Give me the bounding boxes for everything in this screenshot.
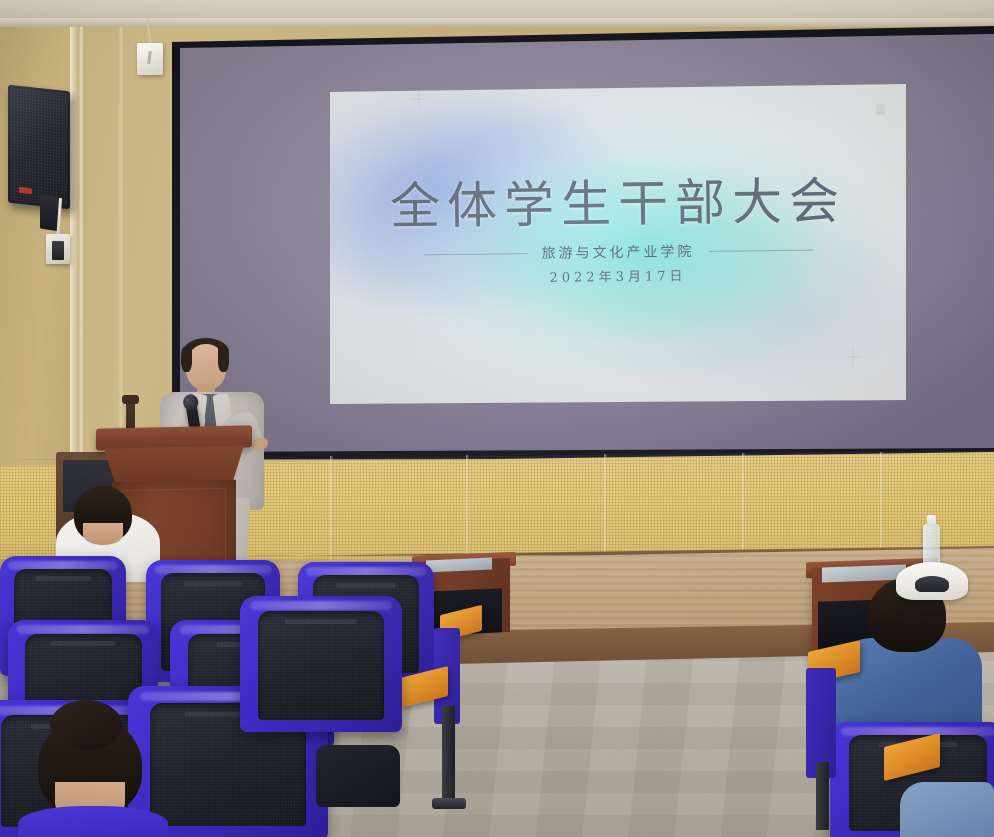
hair-bun bbox=[50, 700, 122, 750]
rule-left bbox=[424, 253, 528, 255]
slide-subtitle-row: 旅游与文化产业学院 bbox=[330, 238, 906, 265]
panel-seam bbox=[330, 456, 333, 561]
speaker-brand-mark bbox=[19, 187, 32, 194]
wall-loudspeaker bbox=[8, 85, 70, 210]
seat-foot bbox=[432, 798, 466, 809]
slide-subtitle: 旅游与文化产业学院 bbox=[541, 241, 694, 263]
wall-seam bbox=[118, 22, 125, 472]
sparkle-icon bbox=[418, 98, 419, 99]
ceiling-control-box bbox=[137, 43, 163, 75]
slide-corner-mark bbox=[876, 104, 885, 115]
wall-sensor-box bbox=[46, 234, 70, 264]
backpack bbox=[316, 745, 400, 807]
podium-neck bbox=[104, 446, 244, 485]
presenter-hair-side bbox=[218, 346, 229, 372]
auditorium-photograph: 全体学生干部大会 旅游与文化产业学院 2022年3月17日 bbox=[0, 0, 994, 837]
seat[interactable] bbox=[240, 596, 402, 732]
presentation-slide: 全体学生干部大会 旅游与文化产业学院 2022年3月17日 bbox=[330, 84, 906, 404]
presenter-hair-side bbox=[181, 346, 192, 372]
attendee-sleeve bbox=[900, 782, 994, 837]
baseball-cap bbox=[896, 562, 968, 600]
panel-seam bbox=[742, 453, 745, 558]
attendee-shoulders bbox=[18, 806, 168, 837]
slide-date: 2022年3月17日 bbox=[330, 262, 906, 288]
attendee-head bbox=[74, 486, 132, 542]
panel-seam bbox=[604, 454, 607, 559]
panel-seam bbox=[880, 452, 883, 557]
rule-right bbox=[708, 249, 812, 251]
seat-leg bbox=[442, 706, 455, 808]
slide-title: 全体学生干部大会 bbox=[330, 160, 907, 239]
sparkle-icon bbox=[852, 356, 853, 357]
wall-seam bbox=[78, 22, 85, 472]
seat-leg bbox=[816, 762, 829, 830]
panel-seam bbox=[466, 455, 469, 560]
